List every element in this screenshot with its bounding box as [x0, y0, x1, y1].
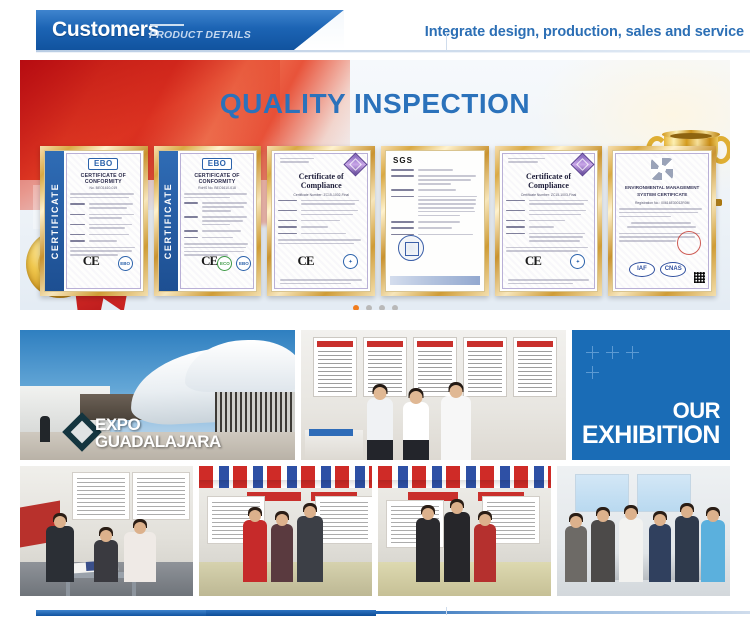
qr-code-icon	[694, 272, 705, 283]
certificate-title: ENVIRONMENTAL MANAGEMENT SYSTEM CERTIFIC…	[619, 184, 705, 198]
visitor-person	[565, 526, 587, 582]
certificate-card[interactable]: Certificate of Compliance Certificate Nu…	[267, 146, 375, 296]
booth-poster	[463, 337, 507, 397]
certificate-body-text	[506, 200, 592, 252]
plus-icon	[586, 366, 599, 379]
ebo-seal: EBO	[236, 256, 251, 271]
iaf-logo: IAF	[629, 262, 655, 277]
certificate-side-banner: CERTIFICATE	[159, 151, 178, 291]
visitor-person	[701, 520, 725, 582]
certificate-number: No. BEO1610-019	[70, 186, 137, 190]
carousel-dot-2[interactable]	[366, 305, 372, 310]
certificate-number: RoHS No. BEO1610-018	[184, 186, 251, 190]
environment-emblem-icon	[651, 158, 673, 180]
carousel-dot-4[interactable]	[392, 305, 398, 310]
certificates-banner: QUALITY INSPECTION CERTIFICATE EBO CERTI…	[20, 60, 730, 310]
venue-fence	[215, 392, 295, 436]
visitor-person	[46, 526, 74, 582]
footer-rule	[376, 611, 750, 614]
ebo-seal: EBO	[118, 256, 133, 271]
staff-person	[94, 540, 118, 582]
sgs-stamp-icon	[398, 235, 424, 261]
wall-poster	[132, 472, 190, 520]
certificate-body-text	[391, 169, 479, 238]
sgs-footer-bar	[390, 276, 480, 285]
product-details-page: Customers PRODUCT DETAILS Integrate desi…	[0, 0, 750, 626]
ce-mark: CE	[525, 253, 541, 269]
certificate-body-text	[70, 193, 137, 256]
exhibition-crowd-photo[interactable]	[557, 466, 730, 596]
certificate-body-text	[184, 193, 251, 256]
ebo-logo: EBO	[88, 158, 118, 170]
carousel-dots	[20, 305, 730, 310]
staff-person	[474, 524, 496, 582]
red-stamp-icon	[677, 231, 701, 255]
certificate-card[interactable]: CERTIFICATE EBO CERTIFICATE OF CONFORMIT…	[154, 146, 262, 296]
certificate-title: Certificate of Compliance	[278, 172, 364, 190]
certificate-side-banner: CERTIFICATE	[45, 151, 64, 291]
staff-person	[441, 396, 471, 460]
wall-poster	[72, 472, 130, 520]
certificate-body-text	[278, 200, 364, 245]
certificates-row: CERTIFICATE EBO CERTIFICATE OF CONFORMIT…	[40, 146, 716, 296]
expo-sign-line1: EXPO	[95, 416, 221, 433]
compliance-seal: ✦	[343, 254, 358, 269]
staff-person	[403, 402, 429, 460]
header-subtitle-rule	[150, 24, 184, 26]
footer-divider	[446, 607, 447, 615]
green-eco-seal: ECO	[217, 256, 232, 271]
plus-icon	[606, 346, 619, 359]
header-underline-soft	[36, 52, 750, 53]
booth-poster	[513, 337, 557, 397]
certificate-number: Certificate Number: ZC15-1002-Final	[278, 193, 364, 197]
staff-person	[271, 524, 293, 582]
expo-sign-line2: GUADALAJARA	[95, 433, 221, 450]
certificate-side-label: CERTIFICATE	[163, 183, 173, 259]
page-header: Customers PRODUCT DETAILS Integrate desi…	[0, 10, 750, 52]
plus-icon	[626, 346, 639, 359]
visitor-person	[675, 516, 699, 582]
our-exhibition-line1: OUR	[582, 398, 720, 423]
visitor-person	[591, 520, 615, 582]
header-subtitle: PRODUCT DETAILS	[149, 29, 251, 41]
brochure-stack	[309, 429, 353, 436]
footer-bar-mid	[206, 610, 376, 616]
visitor-person	[649, 524, 671, 582]
staff-person	[444, 512, 470, 582]
expo-sign-text: EXPO GUADALAJARA	[95, 416, 221, 450]
page-footer	[0, 610, 750, 618]
expo-venue-photo[interactable]: EXPO GUADALAJARA	[20, 330, 295, 460]
certificate-title: CERTIFICATE OF CONFORMITY	[70, 173, 137, 185]
visitor-person	[619, 518, 643, 582]
cnas-logo: CNAS	[660, 262, 686, 277]
compliance-seal: ✦	[570, 254, 585, 269]
staff-person	[416, 518, 440, 582]
meeting-table-photo[interactable]	[20, 466, 193, 596]
certificate-title: CERTIFICATE OF CONFORMITY	[184, 173, 251, 185]
exhibition-top-row: EXPO GUADALAJARA OUR	[20, 330, 730, 460]
visitor-silhouette	[40, 416, 50, 442]
booth-team-photo-1[interactable]	[199, 466, 372, 596]
header-subtitle-wrap: PRODUCT DETAILS	[149, 24, 251, 41]
certificate-title: Certificate of Compliance	[506, 172, 592, 190]
visitor-person	[297, 516, 323, 582]
flag-bunting	[199, 466, 372, 488]
our-exhibition-title: OUR EXHIBITION	[582, 398, 720, 448]
page-title: Customers	[52, 18, 159, 42]
ce-mark: CE	[298, 253, 314, 269]
staff-person	[124, 532, 156, 582]
certificate-number: Certificate Number: ZC15-1003-Final	[506, 193, 592, 197]
trade-show-booth-photo[interactable]	[301, 330, 566, 460]
our-exhibition-line2: EXHIBITION	[582, 423, 720, 448]
staff-person	[367, 398, 393, 460]
certificate-card[interactable]: ENVIRONMENTAL MANAGEMENT SYSTEM CERTIFIC…	[608, 146, 716, 296]
sgs-logo: SGS	[393, 156, 479, 165]
wall-poster	[315, 496, 372, 544]
ce-mark: CE	[201, 253, 217, 269]
certificate-card[interactable]: Certificate of Compliance Certificate Nu…	[495, 146, 603, 296]
header-divider	[446, 32, 447, 52]
certificate-side-label: CERTIFICATE	[50, 183, 60, 259]
carousel-dot-3[interactable]	[379, 305, 385, 310]
carousel-dot-1[interactable]	[353, 305, 359, 310]
exhibition-bottom-row	[20, 466, 730, 596]
booth-poster	[313, 337, 357, 397]
ebo-logo: EBO	[202, 158, 232, 170]
booth-team-photo-2[interactable]	[378, 466, 551, 596]
flag-bunting	[378, 466, 551, 488]
staff-person	[243, 520, 267, 582]
header-tagline: Integrate design, production, sales and …	[425, 24, 744, 40]
certificate-number: Registration No.: 00616E30012R0M	[619, 201, 705, 205]
quality-inspection-title: QUALITY INSPECTION	[20, 88, 730, 120]
plus-icon	[586, 346, 599, 359]
ce-mark: CE	[83, 253, 99, 269]
footer-bar-left	[36, 610, 206, 616]
certificate-card[interactable]: SGS	[381, 146, 489, 296]
our-exhibition-panel: OUR EXHIBITION	[572, 330, 730, 460]
plus-decoration-pattern	[586, 346, 652, 388]
certificate-card[interactable]: CERTIFICATE EBO CERTIFICATE OF CONFORMIT…	[40, 146, 148, 296]
trophy-opening	[670, 133, 712, 139]
